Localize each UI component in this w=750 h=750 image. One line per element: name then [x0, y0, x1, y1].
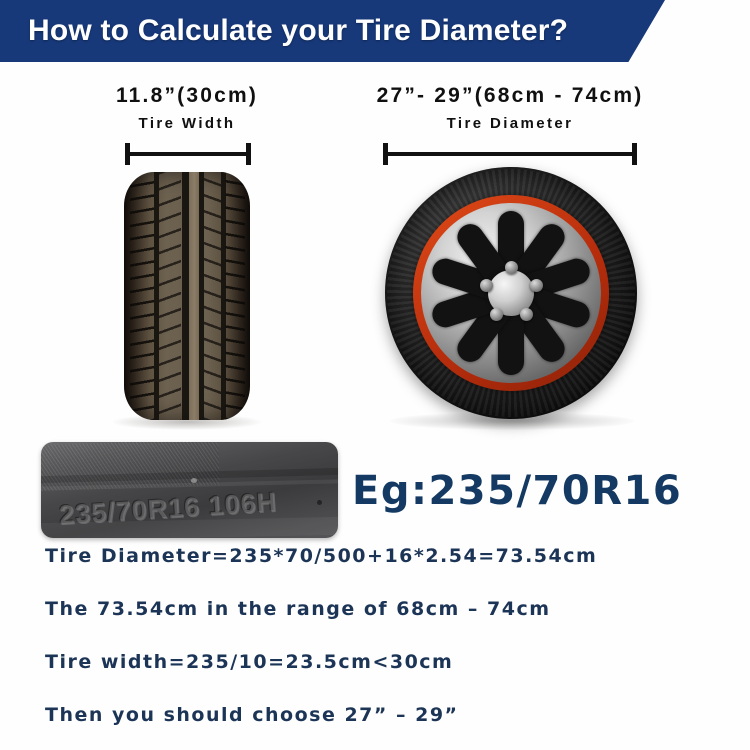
- tire-width-label-group: 11.8”(30cm) Tire Width: [60, 84, 314, 133]
- tire-diameter-caption: Tire Diameter: [330, 116, 690, 133]
- tread-sipes-left-shoulder: [130, 172, 154, 420]
- tread-groove: [199, 172, 204, 420]
- tire-tread-image: [124, 172, 250, 420]
- formula-line-conclusion: Then you should choose 27” – 29”: [45, 705, 740, 727]
- tread-surface: [124, 172, 250, 420]
- wheel-lug-nut: [530, 279, 543, 292]
- tread-sipes-right-inner: [204, 172, 221, 420]
- tread-sipes-right-shoulder: [225, 172, 245, 420]
- wheel-lug-nut: [520, 308, 533, 321]
- tire-diameter-value: 27”- 29”(68cm - 74cm): [330, 84, 690, 107]
- tire-diameter-dimension-bar: [383, 143, 637, 165]
- formula-line-width: Tire width=235/10=23.5cm<30cm: [45, 652, 740, 674]
- wheel-lug-nut: [505, 261, 518, 274]
- dimension-shaft: [383, 152, 637, 156]
- tire-diameter-label-group: 27”- 29”(68cm - 74cm) Tire Diameter: [330, 84, 690, 133]
- tread-groove: [154, 172, 159, 420]
- header-banner: How to Calculate your Tire Diameter?: [0, 0, 665, 62]
- tire-width-value: 11.8”(30cm): [60, 84, 314, 107]
- page-title: How to Calculate your Tire Diameter?: [28, 14, 568, 48]
- dimension-cap-right: [246, 143, 251, 165]
- formula-list: Tire Diameter=235*70/500+16*2.54=73.54cm…: [45, 546, 740, 726]
- sidewall-nib: [191, 478, 197, 483]
- tire-width-caption: Tire Width: [60, 116, 314, 133]
- alloy-wheel-image: [385, 167, 637, 419]
- dimension-cap-right: [632, 143, 637, 165]
- sidewall-contour-band: [41, 517, 338, 538]
- formula-line-diameter: Tire Diameter=235*70/500+16*2.54=73.54cm: [45, 546, 740, 568]
- example-size-code: Eg:235/70R16: [352, 468, 682, 514]
- wheel-lug-nut: [490, 308, 503, 321]
- formula-line-range-check: The 73.54cm in the range of 68cm – 74cm: [45, 599, 740, 621]
- tire-width-dimension-bar: [125, 143, 251, 165]
- tread-sipes-left-inner: [159, 172, 181, 420]
- sidewall-dot-marker: [317, 500, 322, 505]
- dimension-shaft: [125, 152, 251, 156]
- tread-groove: [221, 172, 226, 420]
- wheel-rim-face: [421, 203, 601, 383]
- tire-sidewall-photo: 235/70R16 106H: [41, 442, 338, 538]
- infographic-page: How to Calculate your Tire Diameter? 11.…: [0, 0, 750, 750]
- tread-groove: [182, 172, 189, 420]
- wheel-lug-nut: [480, 279, 493, 292]
